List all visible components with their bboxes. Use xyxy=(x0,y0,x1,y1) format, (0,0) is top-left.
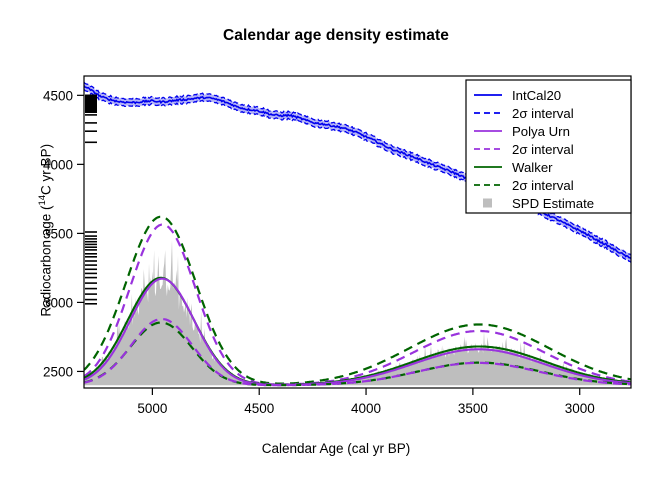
rug-marks-group xyxy=(85,95,97,303)
legend-item-label: IntCal20 xyxy=(512,88,561,103)
plot-canvas: 5000450040003500300025003000350040004500… xyxy=(0,0,672,480)
y-tick-label: 3500 xyxy=(43,226,73,241)
y-tick-label: 2500 xyxy=(43,364,73,379)
x-tick-label: 3500 xyxy=(458,401,488,416)
legend-item-label: 2σ interval xyxy=(512,178,574,193)
y-tick-label: 4500 xyxy=(43,88,73,103)
x-tick-label: 4500 xyxy=(244,401,274,416)
x-tick-label: 5000 xyxy=(137,401,167,416)
legend-swatch-square xyxy=(483,199,492,208)
y-tick-label: 4000 xyxy=(43,157,73,172)
legend-item-label: Walker xyxy=(512,160,553,175)
legend-item-label: Polya Urn xyxy=(512,124,570,139)
x-tick-label: 4000 xyxy=(351,401,381,416)
x-tick-label: 3000 xyxy=(565,401,595,416)
legend-item-label: 2σ interval xyxy=(512,106,574,121)
chart-page: Calendar age density estimate Radiocarbo… xyxy=(0,0,672,480)
legend-item-label: 2σ interval xyxy=(512,142,574,157)
y-tick-label: 3000 xyxy=(43,295,73,310)
legend[interactable]: IntCal202σ intervalPolya Urn2σ intervalW… xyxy=(466,80,631,213)
legend-item-label: SPD Estimate xyxy=(512,196,594,211)
